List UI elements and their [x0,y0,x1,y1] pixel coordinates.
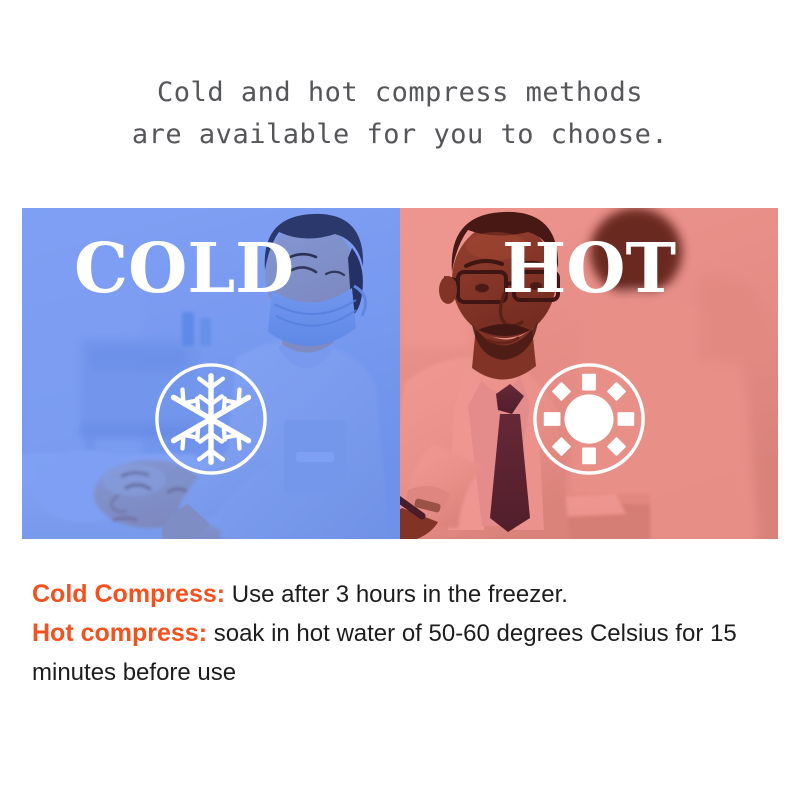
comparison-panels: COLD [22,208,778,539]
sun-icon [530,360,648,478]
cold-wordmark-glyphs: COLD [74,236,344,306]
note-cold-label: Cold Compress: [32,580,225,608]
note-hot-label: Hot compress: [32,619,207,647]
page-title: Cold and hot compress methods are availa… [0,72,800,156]
note-hot-compress: Hot compress: soak in hot water of 50-60… [32,614,777,692]
note-cold-compress: Cold Compress: Use after 3 hours in the … [32,575,777,614]
usage-notes: Cold Compress: Use after 3 hours in the … [32,575,777,692]
panel-hot: HOT [400,208,778,539]
hot-wordmark-glyphs: HOT [502,236,702,306]
page-title-line-2: are available for you to choose. [0,114,800,156]
panel-cold: COLD [22,208,400,539]
note-cold-text: Use after 3 hours in the freezer. [225,581,568,608]
cold-wordmark-text: COLD [74,236,294,306]
infographic-page: Cold and hot compress methods are availa… [0,0,800,800]
snowflake-icon [152,360,270,478]
page-title-line-1: Cold and hot compress methods [0,72,800,114]
hot-wordmark: HOT [502,236,702,316]
cold-wordmark: COLD [74,236,344,316]
hot-wordmark-text: HOT [502,236,676,306]
